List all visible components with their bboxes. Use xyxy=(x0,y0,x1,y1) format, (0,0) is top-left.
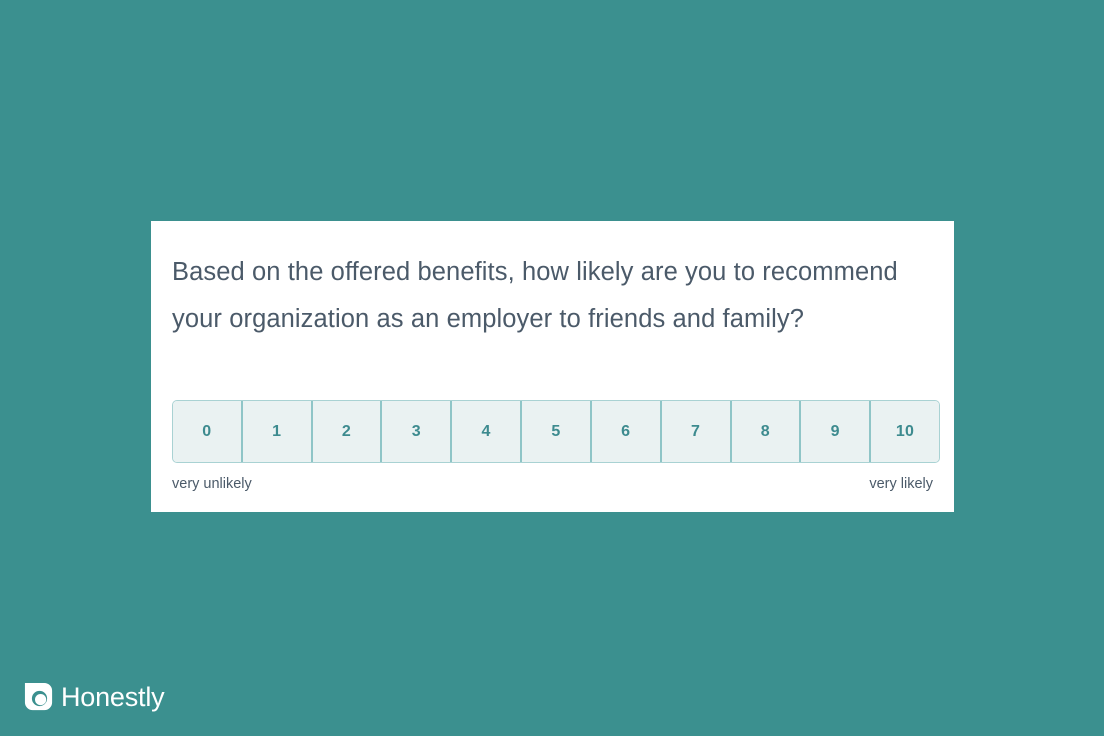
brand-logo: Honestly xyxy=(24,682,164,712)
brand-name: Honestly xyxy=(61,682,164,712)
rating-option-9[interactable]: 9 xyxy=(801,401,871,462)
rating-option-3[interactable]: 3 xyxy=(382,401,452,462)
rating-option-8[interactable]: 8 xyxy=(732,401,802,462)
nps-rating-scale[interactable]: 0 1 2 3 4 5 6 7 8 9 10 xyxy=(172,400,940,463)
question-text: Based on the offered benefits, how likel… xyxy=(172,243,933,343)
rating-option-5[interactable]: 5 xyxy=(522,401,592,462)
rating-option-1[interactable]: 1 xyxy=(243,401,313,462)
rating-scale-container: 0 1 2 3 4 5 6 7 8 9 10 very unlikely ver… xyxy=(172,400,940,493)
rating-option-6[interactable]: 6 xyxy=(592,401,662,462)
rating-option-2[interactable]: 2 xyxy=(313,401,383,462)
scale-anchor-labels: very unlikely very likely xyxy=(172,475,940,493)
honestly-logo-icon xyxy=(24,682,54,712)
rating-option-7[interactable]: 7 xyxy=(662,401,732,462)
scale-max-label: very likely xyxy=(869,475,933,493)
rating-option-10[interactable]: 10 xyxy=(871,401,939,462)
rating-option-4[interactable]: 4 xyxy=(452,401,522,462)
rating-option-0[interactable]: 0 xyxy=(173,401,243,462)
scale-min-label: very unlikely xyxy=(172,475,252,493)
